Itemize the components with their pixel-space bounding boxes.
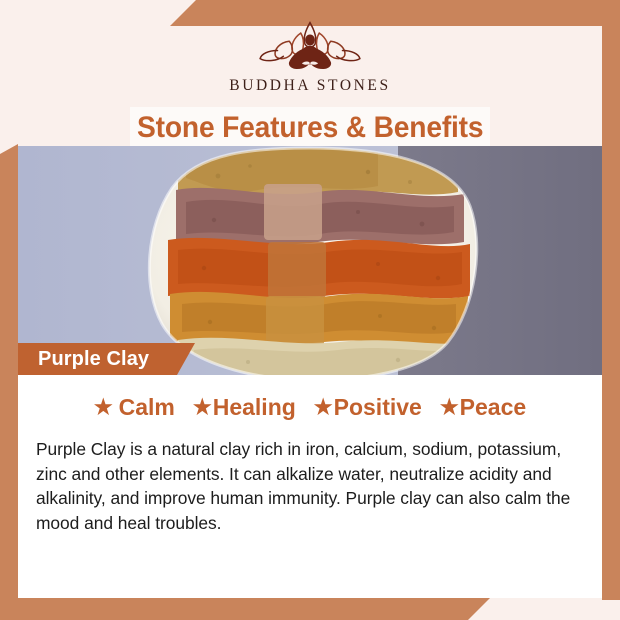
lotus-meditation-icon bbox=[250, 18, 370, 76]
brand-name: BUDDHA STONES bbox=[229, 77, 390, 95]
clay-powder-photo bbox=[18, 146, 602, 375]
keyword-label: Positive bbox=[334, 394, 422, 421]
frame-border-left bbox=[0, 144, 18, 620]
stone-description: Purple Clay is a natural clay rich in ir… bbox=[36, 437, 584, 535]
title-band: Stone Features & Benefits bbox=[130, 107, 490, 148]
page-title: Stone Features & Benefits bbox=[137, 111, 483, 145]
content-panel: ★ Calm ★ Healing ★ Positive ★ Peace Purp… bbox=[18, 375, 602, 598]
star-icon: ★ bbox=[94, 397, 113, 418]
keyword-label: Peace bbox=[460, 394, 527, 421]
keyword-positive: ★ Positive bbox=[314, 394, 422, 421]
benefit-keywords: ★ Calm ★ Healing ★ Positive ★ Peace bbox=[18, 375, 602, 421]
stone-name-label: Purple Clay bbox=[38, 348, 149, 371]
keyword-healing: ★ Healing bbox=[193, 394, 296, 421]
keyword-label: Calm bbox=[119, 394, 175, 421]
frame-border-right bbox=[602, 0, 620, 600]
star-icon: ★ bbox=[440, 397, 459, 418]
stone-name-banner: Purple Clay bbox=[18, 343, 195, 375]
keyword-calm: ★ Calm bbox=[94, 394, 175, 421]
keyword-peace: ★ Peace bbox=[440, 394, 526, 421]
stone-photo bbox=[18, 146, 602, 375]
frame-border-bottom bbox=[0, 598, 490, 620]
keyword-label: Healing bbox=[213, 394, 296, 421]
brand-header: BUDDHA STONES bbox=[18, 18, 602, 106]
star-icon: ★ bbox=[314, 397, 333, 418]
star-icon: ★ bbox=[193, 397, 212, 418]
stone-info-card: BUDDHA STONES Stone Features & Benefits bbox=[0, 0, 620, 620]
